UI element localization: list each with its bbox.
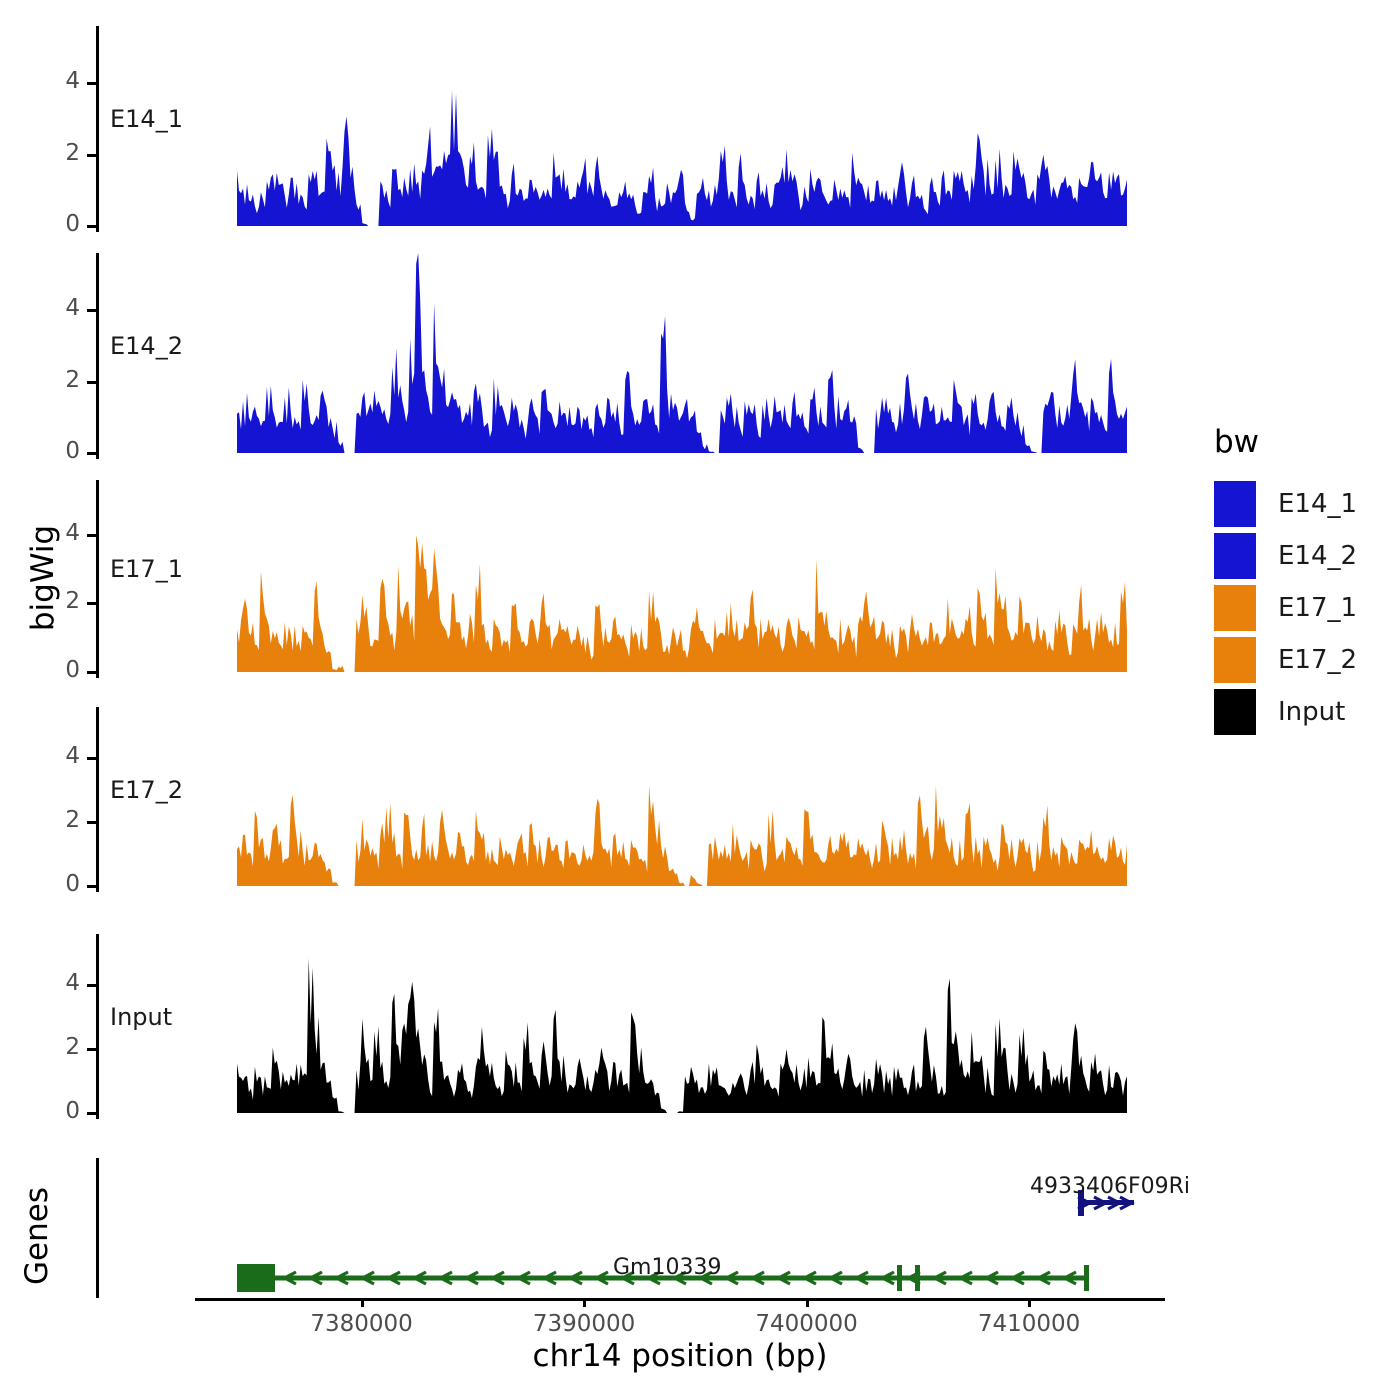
x-tick-label: 7410000 xyxy=(929,1311,1129,1337)
signal-svg xyxy=(237,253,1127,455)
y-axis-line-e14_1 xyxy=(96,26,99,232)
y-tick-label: 4 xyxy=(30,520,80,546)
legend-color-swatch xyxy=(1214,689,1256,735)
signal-area xyxy=(237,253,1127,453)
y-tick-0 xyxy=(87,225,96,228)
legend: bw E14_1E14_2E17_1E17_2Input xyxy=(1214,424,1357,738)
signal-svg xyxy=(237,26,1127,228)
legend-color-swatch xyxy=(1214,637,1256,683)
y-tick-label: 2 xyxy=(30,1034,80,1060)
y-tick-4 xyxy=(87,82,96,85)
signal-svg xyxy=(237,480,1127,674)
track-label-e17_1: E17_1 xyxy=(110,555,183,583)
y-tick-label: 2 xyxy=(30,367,80,393)
track-label-input: Input xyxy=(110,1003,172,1031)
y-tick-2 xyxy=(87,154,96,157)
signal-panel-e14_2[interactable] xyxy=(237,253,1127,455)
gene-label-lower: Gm10339 xyxy=(613,1255,721,1280)
y-axis-line-e17_2 xyxy=(96,707,99,892)
signal-area xyxy=(237,535,1127,672)
x-axis-line xyxy=(195,1298,1165,1301)
signal-panel-input[interactable] xyxy=(237,934,1127,1115)
y-tick-label: 0 xyxy=(30,438,80,464)
genome-browser-plot: bigWig Genes 024E14_1024E14_2024E17_1024… xyxy=(0,0,1400,1400)
y-tick-label: 4 xyxy=(30,295,80,321)
x-tick xyxy=(806,1298,809,1307)
signal-area xyxy=(237,958,1127,1113)
legend-color-swatch xyxy=(1214,533,1256,579)
gene-exon-lower-right xyxy=(1084,1265,1089,1291)
track-label-e17_2: E17_2 xyxy=(110,776,183,804)
legend-item-label: E17_2 xyxy=(1278,645,1357,675)
legend-color-swatch xyxy=(1214,585,1256,631)
signal-svg xyxy=(237,934,1127,1115)
y-tick-4 xyxy=(87,757,96,760)
y-tick-2 xyxy=(87,821,96,824)
y-tick-label: 0 xyxy=(30,211,80,237)
y-tick-label: 4 xyxy=(30,68,80,94)
signal-area xyxy=(237,90,1127,226)
legend-item-label: Input xyxy=(1278,697,1345,727)
y-tick-0 xyxy=(87,1112,96,1115)
gene-exon-lower-mid2 xyxy=(915,1265,920,1291)
signal-panel-e14_1[interactable] xyxy=(237,26,1127,228)
legend-item-label: E17_1 xyxy=(1278,593,1357,623)
x-tick xyxy=(1028,1298,1031,1307)
y-tick-label: 4 xyxy=(30,743,80,769)
y-tick-0 xyxy=(87,452,96,455)
legend-item-e17_1[interactable]: E17_1 xyxy=(1214,582,1357,634)
gene-exon-lower-left xyxy=(237,1264,275,1292)
y-tick-label: 0 xyxy=(30,1098,80,1124)
y-tick-2 xyxy=(87,602,96,605)
y-axis-line-input xyxy=(96,934,99,1119)
signal-panel-e17_2[interactable] xyxy=(237,707,1127,888)
x-tick-label: 7390000 xyxy=(484,1311,684,1337)
legend-color-swatch xyxy=(1214,481,1256,527)
track-label-e14_1: E14_1 xyxy=(110,105,183,133)
x-axis-title: chr14 position (bp) xyxy=(330,1338,1030,1374)
y-axis-line-e17_1 xyxy=(96,480,99,678)
y-tick-label: 2 xyxy=(30,140,80,166)
y-tick-label: 0 xyxy=(30,871,80,897)
legend-items: E14_1E14_2E17_1E17_2Input xyxy=(1214,478,1357,738)
y-tick-4 xyxy=(87,534,96,537)
x-tick-label: 7400000 xyxy=(707,1311,907,1337)
legend-item-e14_2[interactable]: E14_2 xyxy=(1214,530,1357,582)
y-tick-2 xyxy=(87,1048,96,1051)
x-tick xyxy=(583,1298,586,1307)
gene-label-upper: 4933406F09Ri xyxy=(1030,1174,1190,1199)
legend-item-label: E14_1 xyxy=(1278,489,1357,519)
x-tick-label: 7380000 xyxy=(262,1311,462,1337)
y-tick-2 xyxy=(87,381,96,384)
y-tick-label: 2 xyxy=(30,588,80,614)
legend-item-e14_1[interactable]: E14_1 xyxy=(1214,478,1357,530)
signal-panel-e17_1[interactable] xyxy=(237,480,1127,674)
y-tick-0 xyxy=(87,885,96,888)
x-tick xyxy=(361,1298,364,1307)
gene-exon-lower-mid1 xyxy=(897,1265,902,1291)
legend-item-label: E14_2 xyxy=(1278,541,1357,571)
y-tick-4 xyxy=(87,984,96,987)
signal-area xyxy=(237,785,1127,886)
y-tick-0 xyxy=(87,671,96,674)
y-axis-line-e14_2 xyxy=(96,253,99,459)
signal-svg xyxy=(237,707,1127,888)
track-label-e14_2: E14_2 xyxy=(110,332,183,360)
y-tick-label: 4 xyxy=(30,970,80,996)
legend-item-e17_2[interactable]: E17_2 xyxy=(1214,634,1357,686)
y-tick-4 xyxy=(87,309,96,312)
legend-title: bw xyxy=(1214,424,1357,460)
legend-item-input[interactable]: Input xyxy=(1214,686,1357,738)
genes-strip-title: Genes xyxy=(19,1176,55,1296)
y-tick-label: 0 xyxy=(30,657,80,683)
y-tick-label: 2 xyxy=(30,807,80,833)
